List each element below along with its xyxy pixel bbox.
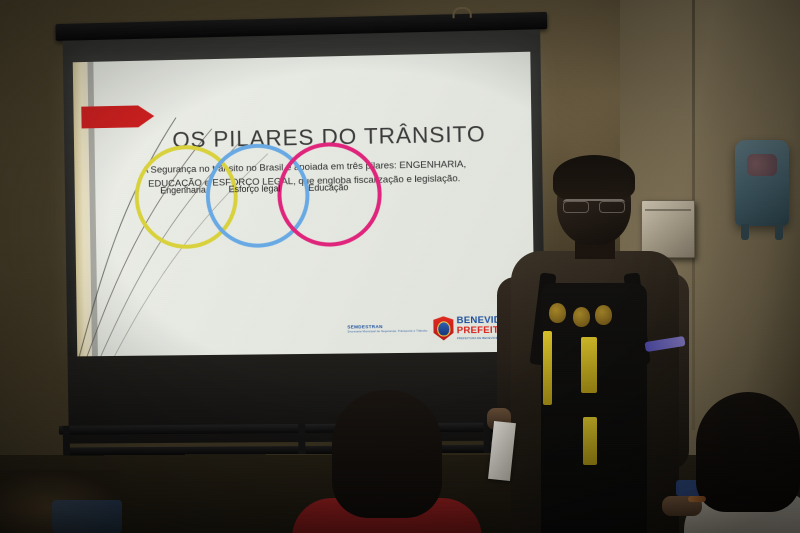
presenter-hair xyxy=(553,155,635,201)
vest-badge-left xyxy=(549,303,566,323)
attendee-red-top xyxy=(288,390,478,533)
reflective-strip-left xyxy=(543,331,552,405)
reflective-strip-center-lower xyxy=(583,417,597,465)
attendee-red-hair xyxy=(332,390,442,518)
photo-scene: OS PILARES DO TRÂNSITO A Segurança no tr… xyxy=(0,0,800,533)
semdestran-logo: SEMDESTRAN Secretaria Municipal de Segur… xyxy=(347,324,427,334)
shield-inner-emblem xyxy=(437,321,450,336)
vest-badge-center xyxy=(573,307,590,327)
venn-circle-educacao xyxy=(277,141,383,247)
venn-label-educacao: Educação xyxy=(273,182,383,194)
projected-slide: OS PILARES DO TRÂNSITO A Segurança no tr… xyxy=(73,52,535,357)
glasses-icon xyxy=(563,199,625,211)
slide-logo-group: SEMDESTRAN Secretaria Municipal de Segur… xyxy=(347,315,520,341)
wall-mounted-blue-unit xyxy=(735,140,789,226)
venn-diagram: Engenharia Esforço legal Educação xyxy=(128,140,439,255)
reflective-strip-center-upper xyxy=(581,337,597,393)
attendee-bracelet xyxy=(688,496,706,502)
attendee-light-top xyxy=(676,392,800,533)
slide-accent-arrow-icon xyxy=(81,105,154,128)
semdestran-subtitle: Secretaria Municipal de Segurança, Trans… xyxy=(347,330,427,335)
screen-hook-icon xyxy=(452,7,471,19)
projector-screen: OS PILARES DO TRÂNSITO A Segurança no tr… xyxy=(62,12,546,444)
presenter-officer xyxy=(497,155,689,533)
vest-badge-right xyxy=(595,305,612,325)
attendee-light-hair xyxy=(696,392,800,512)
screen-surface: OS PILARES DO TRÂNSITO A Segurança no tr… xyxy=(63,29,547,427)
foreground-blue-chair xyxy=(52,500,122,533)
shield-icon xyxy=(433,316,454,340)
screen-stand-leg-left xyxy=(63,426,70,456)
